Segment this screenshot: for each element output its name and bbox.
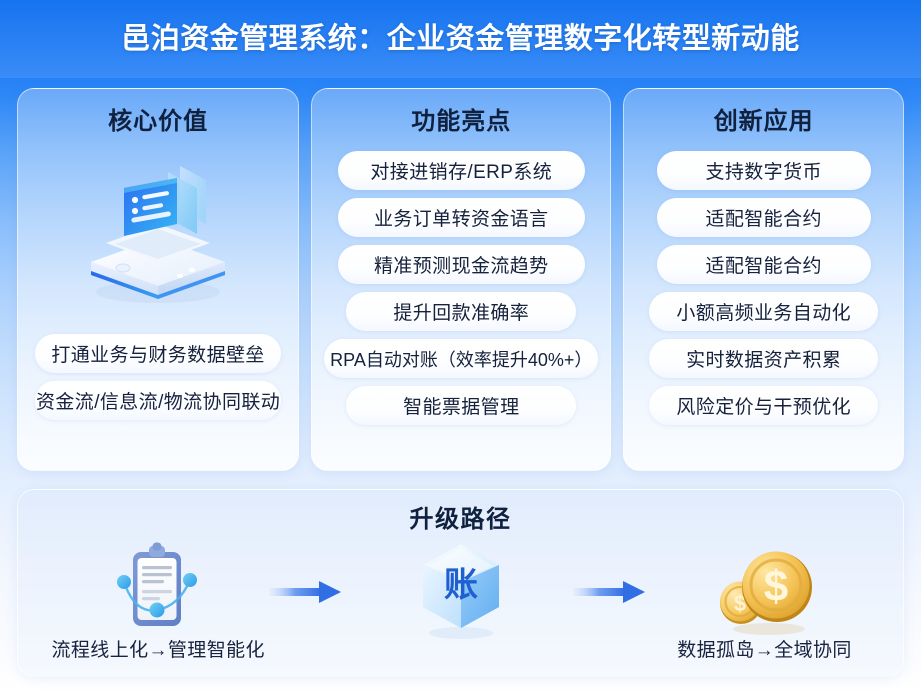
arrow-right-icon	[570, 572, 656, 612]
pill-list-feature-highlights: 对接进销存/ERP系统 业务订单转资金语言 精准预测现金流趋势 提升回款准确率 …	[324, 151, 598, 425]
pill-item[interactable]: 智能票据管理	[346, 386, 576, 425]
flow-caption-spacer: ·	[266, 638, 352, 664]
pill-item[interactable]: 小额高频业务自动化	[649, 292, 878, 331]
pill-item[interactable]: 实时数据资产积累	[649, 339, 878, 378]
columns-container: 核心价值	[17, 88, 904, 471]
flow-step-3: $ $	[660, 542, 870, 642]
column-card-core-value: 核心价值	[17, 88, 299, 471]
pill-list-core-value: 打通业务与财务数据壁垒 资金流/信息流/物流协同联动	[30, 334, 286, 420]
pill-item[interactable]: 提升回款准确率	[346, 292, 576, 331]
pill-item[interactable]: 风险定价与干预优化	[649, 386, 878, 425]
infographic-poster: 邑泊资金管理系统：企业资金管理数字化转型新动能 核心价值	[0, 0, 921, 691]
arrow-right-icon	[266, 572, 352, 612]
pill-item[interactable]: 对接进销存/ERP系统	[338, 151, 585, 190]
pill-item[interactable]: 支持数字货币	[657, 151, 871, 190]
column-title-innovative-applications: 创新应用	[714, 105, 814, 139]
pill-item[interactable]: 打通业务与财务数据壁垒	[35, 334, 281, 373]
upgrade-path-title: 升级路径	[18, 504, 903, 536]
hexagon-ledger-icon: 账	[409, 538, 513, 647]
flow-caption-3: 数据孤岛→全域协同	[660, 638, 870, 664]
flow-caption-spacer: ·	[570, 638, 656, 664]
column-title-core-value: 核心价值	[108, 105, 208, 139]
upgrade-path-captions: 流程线上化→管理智能化 · · 数据孤岛→全域协同	[18, 638, 903, 664]
flow-step-2: 账	[356, 542, 566, 642]
isometric-server-documents-icon	[30, 145, 286, 315]
pill-list-innovative-applications: 支持数字货币 适配智能合约 适配智能合约 小额高频业务自动化 实时数据资产积累 …	[636, 151, 891, 425]
clipboard-network-icon	[105, 540, 209, 645]
upgrade-path-panel: 升级路径	[17, 489, 904, 677]
flow-step-1	[52, 542, 262, 642]
pill-item[interactable]: 资金流/信息流/物流协同联动	[35, 381, 281, 420]
svg-text:$: $	[763, 562, 787, 611]
pill-item[interactable]: 业务订单转资金语言	[338, 198, 585, 237]
pill-item[interactable]: 适配智能合约	[657, 198, 871, 237]
pill-item[interactable]: RPA自动对账（效率提升40%+）	[324, 339, 598, 378]
flow-caption-1: 流程线上化→管理智能化	[52, 638, 262, 664]
hexagon-ledger-glyph: 账	[444, 566, 478, 604]
page-title: 邑泊资金管理系统：企业资金管理数字化转型新动能	[0, 19, 921, 59]
column-card-feature-highlights: 功能亮点 对接进销存/ERP系统 业务订单转资金语言 精准预测现金流趋势 提升回…	[311, 88, 611, 471]
gold-coins-dollar-icon: $ $	[711, 541, 819, 644]
column-card-innovative-applications: 创新应用 支持数字货币 适配智能合约 适配智能合约 小额高频业务自动化 实时数据…	[623, 88, 904, 471]
upgrade-path-flow: 账	[18, 542, 903, 642]
pill-item[interactable]: 适配智能合约	[657, 245, 871, 284]
pill-item[interactable]: 精准预测现金流趋势	[338, 245, 585, 284]
column-title-feature-highlights: 功能亮点	[411, 105, 511, 139]
